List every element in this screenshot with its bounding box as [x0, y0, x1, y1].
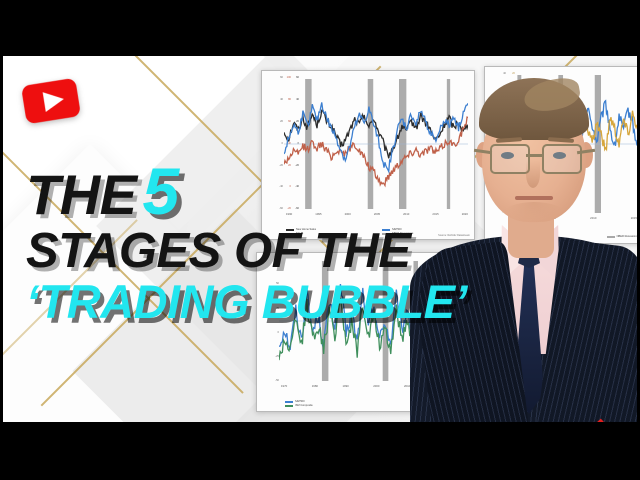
title-line-2: STAGES OF THE — [26, 228, 467, 274]
legend-entry: ISM Composite — [285, 404, 313, 408]
axis-tick-label: -50 — [259, 380, 279, 383]
nose — [526, 160, 540, 188]
chin-shading — [504, 202, 564, 224]
letterbox-top — [0, 0, 640, 56]
axis-tick-label: -25 — [259, 356, 279, 359]
mouth — [515, 196, 553, 200]
title-word-the: THE — [26, 163, 137, 226]
axis-tick-label: 2000 — [373, 384, 379, 391]
title-line-1: THE5 — [26, 160, 467, 222]
axis-tick-label: 1990 — [343, 384, 349, 391]
axis-tick-label: 1980 — [312, 384, 318, 391]
legend-label: ISM Composite — [295, 404, 313, 408]
legend-swatch — [285, 405, 293, 407]
axis-tick-label: 0 — [259, 332, 279, 335]
eyeglasses-icon — [542, 144, 582, 174]
legend-swatch — [285, 401, 293, 403]
eyeglasses-icon — [490, 144, 530, 174]
letterbox-bottom — [0, 422, 640, 480]
title-block: THE5 STAGES OF THE ‘TRADING BUBBLE’ — [26, 160, 467, 324]
letterbox-left — [0, 0, 3, 480]
thumbnail-content: 6040200-20-40-60 100806040200-20 6040200… — [0, 56, 640, 422]
axis-tick-label: 1970 — [281, 384, 287, 391]
title-line-3: ‘TRADING BUBBLE’ — [26, 280, 467, 324]
title-number-five: 5 — [143, 154, 179, 228]
chart-bottom-legend: S&P500ISM Composite — [285, 400, 313, 408]
eyeglasses-bridge — [526, 154, 542, 157]
thumbnail-canvas: 6040200-20-40-60 100806040200-20 6040200… — [0, 0, 640, 480]
